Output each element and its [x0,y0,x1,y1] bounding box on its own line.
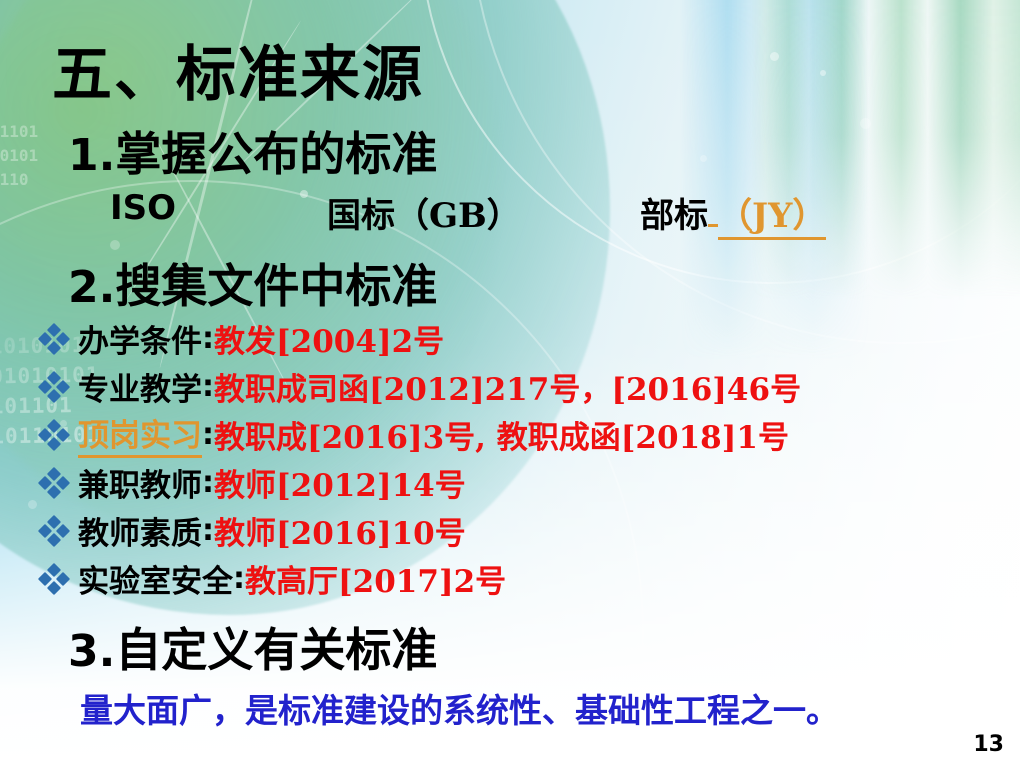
list-item-colon: : [202,321,214,356]
list-item: 实验室安全:教高厅[2017]2号 [38,554,998,602]
section-3-heading-text: 自定义有关标准 [115,623,437,677]
slide-canvas: 1010101 01010101 101101 10110101 01101 1… [0,0,1020,765]
list-item-value: 教高厅[2017]2号 [245,556,506,601]
list-item-label: 实验室安全 [78,556,233,601]
list-item: 办学条件:教发[2004]2号 [38,314,998,362]
diamond-bullet-icon [38,420,72,448]
diamond-bullet-icon [38,564,72,592]
list-item-colon: : [202,465,214,500]
section-3-heading: 3.自定义有关标准 [68,614,437,680]
list-item-colon: : [202,417,214,452]
section-1-number: 1. [68,130,115,181]
list-item-value: 教职成司函[2012]217号，[2016]46号 [214,364,801,409]
section-1-heading: 1.掌握公布的标准 [68,118,437,184]
section-3-number: 3. [68,626,115,677]
standard-jy-highlight: （JY） [718,196,826,240]
list-item-value: 教师[2016]10号 [214,508,466,553]
section-2-heading: 2.搜集文件中标准 [68,250,437,316]
list-item-colon: : [233,561,245,596]
closing-statement: 量大面广，是标准建设的系统性、基础性工程之一。 [80,684,839,732]
list-item: 教师素质:教师[2016]10号 [38,506,998,554]
document-standards-list: 办学条件:教发[2004]2号 专业教学:教职成司函[2012]217号，[20… [38,314,998,602]
section-2-heading-text: 搜集文件中标准 [115,259,437,313]
section-2-number: 2. [68,262,115,313]
standard-jy: 部标（JY） [640,188,826,237]
list-item-value: 教师[2012]14号 [214,460,466,505]
list-item-colon: : [202,513,214,548]
section-1-heading-text: 掌握公布的标准 [115,127,437,181]
list-item: 顶岗实习:教职成[2016]3号, 教职成函[2018]1号 [38,410,998,458]
list-item-value: 教职成[2016]3号, 教职成函[2018]1号 [214,412,789,457]
page-number: 13 [973,732,1004,757]
list-item-label: 教师素质 [78,508,202,553]
list-item-label: 专业教学 [78,364,202,409]
slide-content: 五、标准来源 1.掌握公布的标准 ISO 国标（GB） 部标（JY） 2.搜集文… [0,0,1020,765]
standard-jy-plain: 部标 [640,196,708,236]
standards-row: ISO 国标（GB） 部标（JY） [110,188,990,236]
list-item: 专业教学:教职成司函[2012]217号，[2016]46号 [38,362,998,410]
diamond-bullet-icon [38,468,72,496]
standard-jy-underline-lead [708,224,718,227]
standard-iso: ISO [110,188,176,228]
page-title: 五、标准来源 [52,26,424,113]
list-item-value: 教发[2004]2号 [214,316,444,361]
list-item-label: 办学条件 [78,316,202,361]
diamond-bullet-icon [38,372,72,400]
list-item: 兼职教师:教师[2012]14号 [38,458,998,506]
diamond-bullet-icon [38,516,72,544]
list-item-label: 兼职教师 [78,460,202,505]
standard-gb: 国标（GB） [327,188,521,237]
diamond-bullet-icon [38,324,72,352]
list-item-colon: : [202,369,214,404]
list-item-label[interactable]: 顶岗实习 [78,410,202,458]
